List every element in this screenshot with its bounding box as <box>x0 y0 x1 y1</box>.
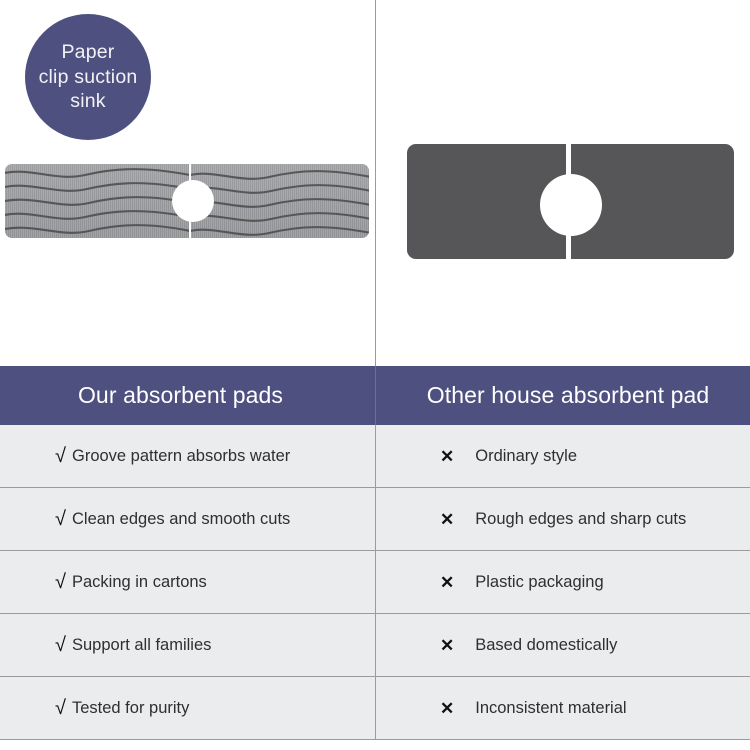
row-label-other: Based domestically <box>475 636 617 655</box>
row-label-ours: Clean edges and smooth cuts <box>72 510 290 529</box>
cross-icon: ✕ <box>440 448 454 465</box>
check-icon: √ <box>55 509 66 529</box>
row-cell-ours: √ Packing in cartons <box>0 551 375 613</box>
row-cell-other: ✕ Plastic packaging <box>375 551 750 613</box>
comparison-table: Our absorbent pads Other house absorbent… <box>0 366 750 740</box>
cross-icon: ✕ <box>440 637 454 654</box>
our-pad-right-half <box>191 164 369 238</box>
row-label-other: Inconsistent material <box>475 699 626 718</box>
row-cell-other: ✕ Rough edges and sharp cuts <box>375 488 750 550</box>
table-row: √ Groove pattern absorbs water ✕ Ordinar… <box>0 425 750 488</box>
check-icon: √ <box>55 572 66 592</box>
row-cell-ours: √ Groove pattern absorbs water <box>0 425 375 487</box>
groove-wave-pattern-icon <box>191 164 369 238</box>
cross-icon: ✕ <box>440 700 454 717</box>
row-cell-ours: √ Tested for purity <box>0 677 375 739</box>
row-label-ours: Support all families <box>72 636 211 655</box>
row-label-ours: Groove pattern absorbs water <box>72 447 290 466</box>
hero-vertical-divider <box>375 0 376 366</box>
table-row: √ Support all families ✕ Based domestica… <box>0 614 750 677</box>
paper-clip-suction-sink-badge: Paper clip suction sink <box>25 14 151 140</box>
groove-wave-pattern-icon <box>5 164 189 238</box>
other-pad-faucet-cutout <box>540 174 602 236</box>
our-pad-faucet-cutout <box>172 180 214 222</box>
cross-icon: ✕ <box>440 511 454 528</box>
row-label-other: Ordinary style <box>475 447 577 466</box>
row-cell-other: ✕ Based domestically <box>375 614 750 676</box>
check-icon: √ <box>55 635 66 655</box>
row-label-other: Rough edges and sharp cuts <box>475 510 686 529</box>
table-row: √ Tested for purity ✕ Inconsistent mater… <box>0 677 750 740</box>
table-row: √ Packing in cartons ✕ Plastic packaging <box>0 551 750 614</box>
check-icon: √ <box>55 698 66 718</box>
cross-icon: ✕ <box>440 574 454 591</box>
row-label-ours: Packing in cartons <box>72 573 207 592</box>
row-label-other: Plastic packaging <box>475 573 603 592</box>
header-label-ours: Our absorbent pads <box>78 382 283 409</box>
row-label-ours: Tested for purity <box>72 699 189 718</box>
row-cell-other: ✕ Ordinary style <box>375 425 750 487</box>
table-header-row: Our absorbent pads Other house absorbent… <box>0 366 750 425</box>
row-cell-ours: √ Clean edges and smooth cuts <box>0 488 375 550</box>
table-row: √ Clean edges and smooth cuts ✕ Rough ed… <box>0 488 750 551</box>
header-cell-other: Other house absorbent pad <box>375 366 750 425</box>
our-absorbent-pad-image <box>5 164 369 238</box>
our-pad-left-half <box>5 164 189 238</box>
header-cell-ours: Our absorbent pads <box>0 366 375 425</box>
check-icon: √ <box>55 446 66 466</box>
other-absorbent-pad-image <box>407 144 734 259</box>
badge-label: Paper clip suction sink <box>39 40 138 115</box>
product-hero: Paper clip suction sink <box>0 0 750 366</box>
row-cell-other: ✕ Inconsistent material <box>375 677 750 739</box>
row-cell-ours: √ Support all families <box>0 614 375 676</box>
header-label-other: Other house absorbent pad <box>427 382 710 409</box>
